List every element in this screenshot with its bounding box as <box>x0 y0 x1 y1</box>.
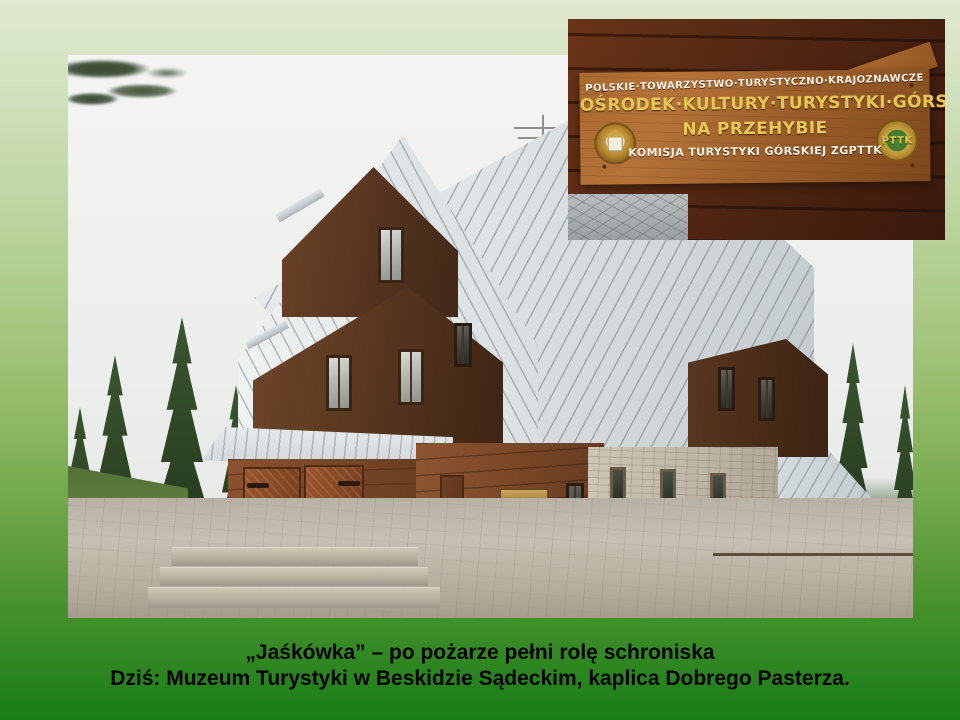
slide-canvas: PTTK POLSKIE·TOWARZYSTWO·TURYSTYCZNO·KRA… <box>0 0 960 720</box>
window-right-dormer-b <box>758 377 775 421</box>
sign-board: PTTK POLSKIE·TOWARZYSTWO·TURYSTYCZNO·KRA… <box>579 69 930 185</box>
window-lower-gable-right <box>398 349 424 405</box>
door-hinge <box>338 481 360 486</box>
slide-caption: „Jaśkówka” – po pożarze pełni rolę schro… <box>0 640 960 691</box>
board-nail <box>910 163 914 167</box>
sign-line-2: OŚRODEK·KULTURY·TURYSTYKI·GÓRSKIEJ <box>580 92 930 116</box>
caption-line-1: „Jaśkówka” – po pożarze pełni rolę schro… <box>0 640 960 666</box>
sign-line-1: POLSKIE·TOWARZYSTWO·TURYSTYCZNO·KRAJOZNA… <box>579 73 929 95</box>
inset-sign-photo: PTTK POLSKIE·TOWARZYSTWO·TURYSTYCZNO·KRA… <box>568 19 945 240</box>
board-nail <box>602 165 606 169</box>
window-lower-gable-left <box>326 355 352 411</box>
door-hinge <box>247 483 269 488</box>
stair-step-middle <box>160 567 428 586</box>
stair-step-upper <box>172 547 418 566</box>
window-upper-gable <box>378 227 404 283</box>
window-right-dormer-a <box>718 367 735 411</box>
wall-lamp <box>454 323 472 367</box>
caption-line-2: Dziś: Muzeum Turystyki w Beskidzie Sądec… <box>0 666 960 692</box>
fence-rail <box>713 553 913 556</box>
stair-step-lower <box>148 587 440 608</box>
eave-upper <box>275 189 325 223</box>
sign-line-3: NA PRZEHYBIE <box>580 117 930 141</box>
inset-tiled-floor <box>568 194 688 240</box>
